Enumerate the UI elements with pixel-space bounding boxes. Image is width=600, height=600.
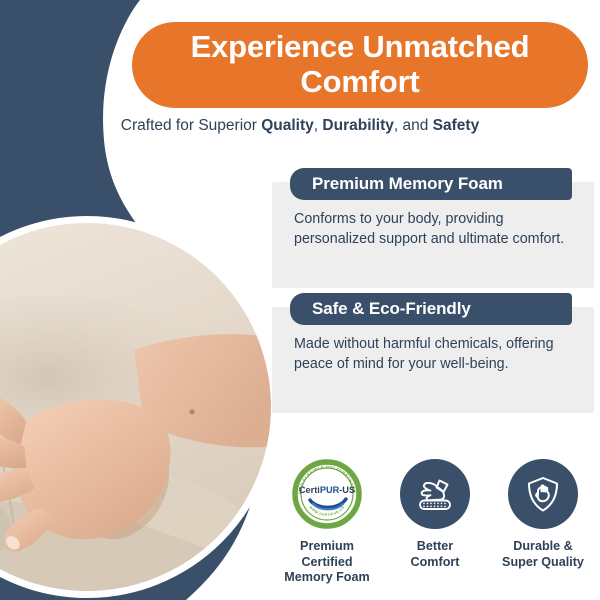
badge-icon-wrapper: [399, 458, 471, 530]
badge-icon-wrapper: [507, 458, 579, 530]
subtitle-quality: Quality: [261, 117, 314, 134]
feature-card-premium-memory-foam: Premium Memory Foam Conforms to your bod…: [272, 168, 594, 250]
subtitle-durability: Durability: [322, 117, 393, 134]
feature-card-safe-eco-friendly: Safe & Eco-Friendly Made without harmful…: [272, 293, 594, 375]
badge-durable-super-quality: Durable & Super Quality: [494, 458, 592, 586]
trust-badges-row: CERTIFIED FLEXIBLE POLYURETHANE FOAM WWW…: [278, 458, 592, 586]
feature-card-title: Safe & Eco-Friendly: [312, 299, 471, 319]
svg-text:CertiPUR-US: CertiPUR-US: [299, 485, 355, 495]
feature-card-title: Premium Memory Foam: [312, 174, 503, 194]
memory-foam-hand-illustration: [0, 223, 271, 591]
infographic-canvas: Experience Unmatched Comfort Crafted for…: [0, 0, 600, 600]
feature-card-header: Premium Memory Foam: [290, 168, 572, 200]
feature-card-description: Conforms to your body, providing persona…: [294, 209, 576, 250]
hand-on-mattress-icon: [412, 471, 458, 517]
product-photo-circle: [0, 216, 278, 598]
badge-premium-certified-memory-foam: CERTIFIED FLEXIBLE POLYURETHANE FOAM WWW…: [278, 458, 376, 586]
subtitle-prefix: Crafted for Superior: [121, 117, 261, 134]
header-subtitle: Crafted for Superior Quality, Durability…: [0, 116, 600, 136]
subtitle-sep-2: , and: [394, 117, 433, 134]
badge-caption: Durable & Super Quality: [502, 539, 584, 570]
feature-card-header: Safe & Eco-Friendly: [290, 293, 572, 325]
badge-caption: Premium Certified Memory Foam: [278, 539, 376, 586]
header-banner: Experience Unmatched Comfort: [132, 22, 588, 108]
badge-circle: [400, 459, 470, 529]
product-photo: [0, 223, 271, 591]
badge-better-comfort: Better Comfort: [386, 458, 484, 586]
subtitle-safety: Safety: [433, 117, 480, 134]
feature-card-description: Made without harmful chemicals, offering…: [294, 334, 576, 375]
badge-icon-wrapper: CERTIFIED FLEXIBLE POLYURETHANE FOAM WWW…: [291, 458, 363, 530]
badge-circle: [508, 459, 578, 529]
page-title: Experience Unmatched Comfort: [191, 30, 530, 99]
certipur-us-seal-icon: CERTIFIED FLEXIBLE POLYURETHANE FOAM WWW…: [292, 459, 362, 529]
badge-caption: Better Comfort: [411, 539, 460, 570]
shield-fist-icon: [520, 471, 566, 517]
